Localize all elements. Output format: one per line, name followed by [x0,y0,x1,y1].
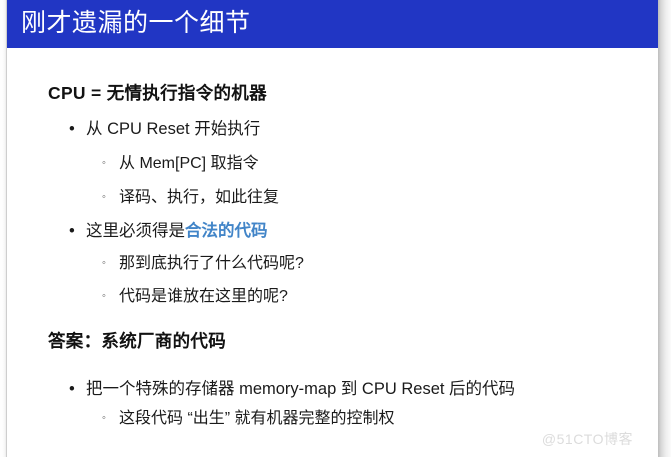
list-item-text: 把一个特殊的存储器 memory-map 到 CPU Reset 后的代码 [86,380,515,398]
list-item-text: 这段代码 “出生” 就有机器完整的控制权 [119,410,395,427]
bullet-circle-icon: ◦ [102,285,119,307]
list-item: ◦从 Mem[PC] 取指令 [102,153,259,176]
list-item: •从 CPU Reset 开始执行 [69,118,260,140]
list-item: ◦那到底执行了什么代码呢? [102,253,304,276]
section-heading-cpu: CPU = 无情执行指令的机器 [48,80,267,105]
list-item: ◦译码、执行，如此往复 [102,187,279,210]
bullet-circle-icon: ◦ [102,152,119,174]
list-item-text: 从 Mem[PC] 取指令 [119,155,259,172]
list-item-text: 那到底执行了什么代码呢? [119,255,304,272]
watermark: @51CTO博客 [542,429,633,449]
section-heading-answer: 答案：系统厂商的代码 [48,328,226,353]
left-edge-gutter [0,0,7,457]
highlighted-term: 合法的代码 [185,222,268,240]
list-item: •这里必须得是合法的代码 [69,220,268,242]
slide-surface: 刚才遗漏的一个细节 CPU = 无情执行指令的机器 •从 CPU Reset 开… [7,0,658,457]
bullet-disc-icon: • [69,378,86,400]
bullet-disc-icon: • [69,118,86,140]
slide-page: 刚才遗漏的一个细节 CPU = 无情执行指令的机器 •从 CPU Reset 开… [0,0,671,457]
list-item: ◦这段代码 “出生” 就有机器完整的控制权 [102,408,395,431]
slide-body: CPU = 无情执行指令的机器 •从 CPU Reset 开始执行 ◦从 Mem… [7,48,658,457]
bullet-circle-icon: ◦ [102,407,119,429]
slide-title: 刚才遗漏的一个细节 [21,7,251,40]
slide-title-bar: 刚才遗漏的一个细节 [7,0,658,48]
list-item-text: 从 CPU Reset 开始执行 [86,120,260,138]
bullet-circle-icon: ◦ [102,186,119,208]
bullet-disc-icon: • [69,220,86,242]
list-item: ◦代码是谁放在这里的呢? [102,286,288,309]
list-item: •把一个特殊的存储器 memory-map 到 CPU Reset 后的代码 [69,378,515,400]
right-edge-shadow [658,0,671,457]
bullet-circle-icon: ◦ [102,252,119,274]
list-item-text: 这里必须得是 [86,222,185,240]
list-item-text: 代码是谁放在这里的呢? [119,288,288,305]
list-item-text: 译码、执行，如此往复 [119,189,279,206]
